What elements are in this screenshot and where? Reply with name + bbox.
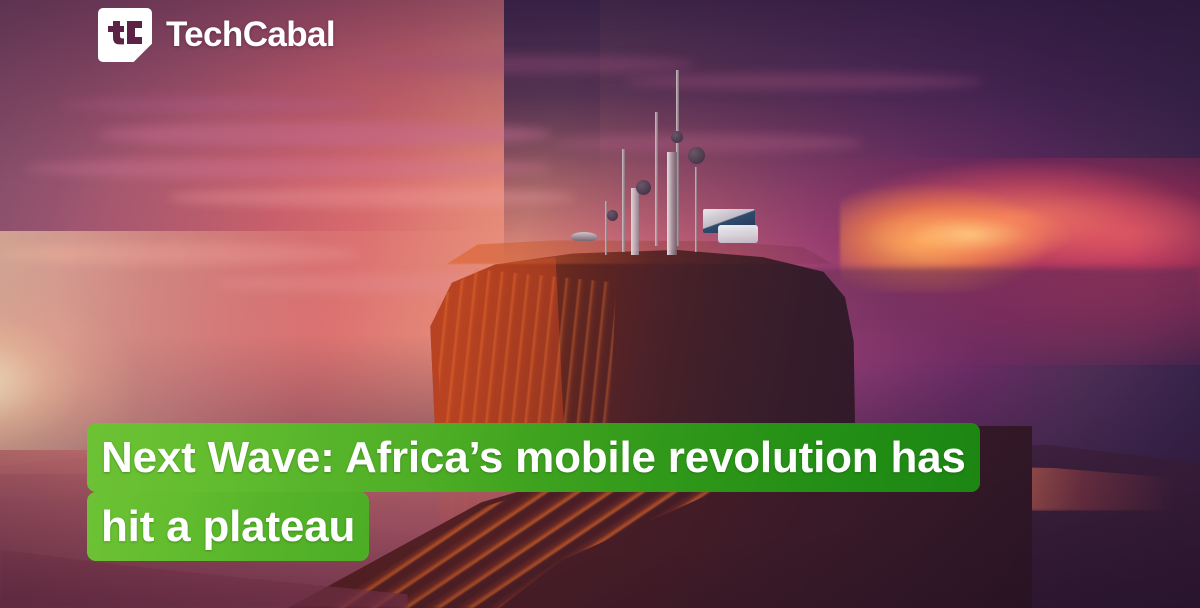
techcabal-logo[interactable]: TechCabal xyxy=(98,8,335,62)
headline-line-2: hit a plateau xyxy=(87,492,369,561)
techcabal-wordmark: TechCabal xyxy=(166,15,335,55)
techcabal-logo-icon xyxy=(98,8,152,62)
article-hero-banner: TechCabal Next Wave: Africa’s mobile rev… xyxy=(0,0,1200,608)
headline-line-1: Next Wave: Africa’s mobile revolution ha… xyxy=(87,423,980,492)
article-headline: Next Wave: Africa’s mobile revolution ha… xyxy=(87,424,1092,561)
